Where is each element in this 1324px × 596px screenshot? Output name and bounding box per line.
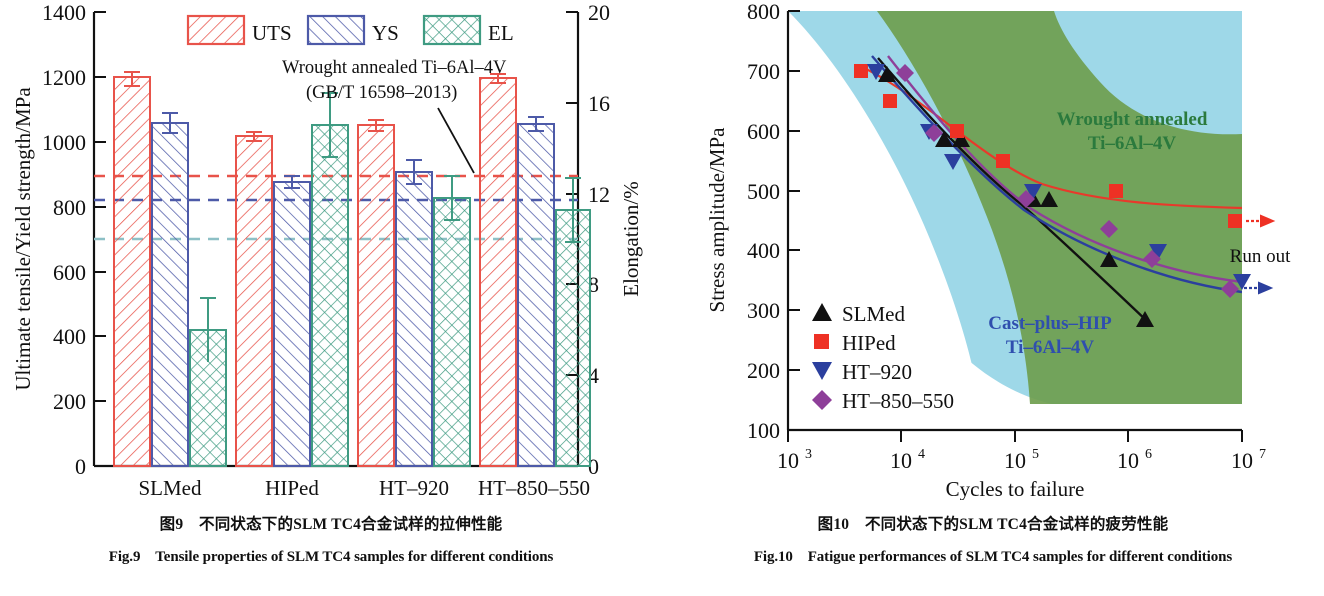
x10-tick-1e7-exp: 7 — [1259, 447, 1266, 462]
bar-uts-ht850550[interactable] — [480, 78, 516, 466]
bar-group-ht920 — [358, 120, 470, 466]
figure-9-caption-en: Fig.9 Tensile properties of SLM TC4 samp… — [0, 545, 662, 566]
y-axis-title-10: Stress amplitude/MPa — [705, 127, 729, 313]
band-label-wrought-l2: Ti–6Al–4V — [1088, 133, 1177, 154]
bar-el-ht920[interactable] — [434, 198, 470, 466]
x10-tick-1e5-exp: 5 — [1032, 447, 1039, 462]
fatigue-scatter-chart: 100 200 300 400 500 600 700 800 10 3 — [662, 0, 1324, 500]
annotation-line-2: (GB/T 16598–2013) — [306, 83, 457, 103]
bar-uts-ht920[interactable] — [358, 125, 394, 466]
legend-swatch-el — [424, 16, 480, 44]
y10-tick-700: 700 — [747, 59, 780, 84]
band-label-wrought-l1: Wrought annealed — [1057, 109, 1208, 130]
figure-9-caption-cn: 图9 不同状态下的SLM TC4合金试样的拉伸性能 — [0, 512, 662, 534]
legend-label-ys: YS — [372, 21, 399, 45]
legend-label-hiped: HIPed — [842, 331, 896, 355]
y-left-tick-1000: 1000 — [42, 130, 86, 155]
band-label-cast-l1: Cast–plus–HIP — [988, 313, 1112, 334]
legend-label-slmed: SLMed — [842, 302, 906, 326]
y-left-tick-0: 0 — [75, 454, 86, 479]
legend-tensile: UTS YS EL — [188, 16, 514, 45]
runout-label: Run out — [1230, 246, 1291, 267]
x10-tick-1e7: 10 7 — [1231, 447, 1266, 473]
y10-tick-200: 200 — [747, 358, 780, 383]
figure-9-panel: 0 200 400 600 800 1000 1200 1400 0 4 8 — [0, 0, 662, 596]
cat-label-ht920: HT–920 — [379, 476, 449, 500]
legend-label-ht920: HT–920 — [842, 360, 912, 384]
bar-group-hiped — [236, 93, 348, 466]
x-axis-ticks-10: 10 3 10 4 10 5 10 6 10 7 — [777, 430, 1266, 473]
x10-tick-1e7-base: 10 — [1231, 448, 1253, 473]
y-right-tick-12: 12 — [588, 182, 610, 207]
bar-ys-slmed[interactable] — [152, 123, 188, 466]
band-label-cast-l2: Ti–6Al–4V — [1006, 337, 1095, 358]
x10-tick-1e5-base: 10 — [1004, 448, 1026, 473]
y10-tick-500: 500 — [747, 179, 780, 204]
bar-el-hiped[interactable] — [312, 125, 348, 466]
legend-marker-hiped — [814, 334, 829, 349]
y10-tick-300: 300 — [747, 298, 780, 323]
bar-el-ht850550[interactable] — [556, 210, 590, 466]
legend-label-ht850550: HT–850–550 — [842, 389, 954, 413]
legend-swatch-uts — [188, 16, 244, 44]
bar-ys-hiped[interactable] — [274, 182, 310, 466]
bar-group-ht850550 — [480, 74, 590, 466]
cat-label-hiped: HIPed — [265, 476, 319, 500]
bar-uts-hiped[interactable] — [236, 136, 272, 466]
annotation-leader-line — [438, 108, 474, 173]
x-axis-category-labels: SLMed HIPed HT–920 HT–850–550 — [139, 476, 591, 500]
marker-hiped — [996, 154, 1010, 168]
y-left-tick-1200: 1200 — [42, 65, 86, 90]
x10-tick-1e3-exp: 3 — [805, 447, 812, 462]
legend-swatch-ys — [308, 16, 364, 44]
x10-tick-1e6: 10 6 — [1117, 447, 1152, 473]
x10-tick-1e6-base: 10 — [1117, 448, 1139, 473]
y-left-tick-600: 600 — [53, 260, 86, 285]
y-axis-left-title: Ultimate tensile/Yield strength/MPa — [11, 87, 35, 391]
cat-label-slmed: SLMed — [139, 476, 203, 500]
y-left-tick-400: 400 — [53, 324, 86, 349]
bar-group-slmed — [114, 72, 226, 466]
figure-10-panel: 100 200 300 400 500 600 700 800 10 3 — [662, 0, 1324, 596]
y-axis-right-title: Elongation/% — [619, 181, 643, 296]
x-axis-title-10: Cycles to failure — [946, 477, 1085, 500]
legend-label-el: EL — [488, 21, 514, 45]
bar-uts-slmed[interactable] — [114, 77, 150, 466]
x10-tick-1e4-base: 10 — [890, 448, 912, 473]
cat-label-ht850550: HT–850–550 — [478, 476, 590, 500]
y-left-tick-1400: 1400 — [42, 0, 86, 25]
marker-hiped — [883, 94, 897, 108]
x10-tick-1e6-exp: 6 — [1145, 447, 1152, 462]
figure-page: 0 200 400 600 800 1000 1200 1400 0 4 8 — [0, 0, 1324, 596]
bar-ys-ht850550[interactable] — [518, 124, 554, 466]
marker-hiped — [854, 64, 868, 78]
tensile-bar-chart: 0 200 400 600 800 1000 1200 1400 0 4 8 — [0, 0, 662, 500]
annotation-line-1: Wrought annealed Ti–6Al–4V — [282, 58, 507, 78]
bar-ys-ht920[interactable] — [396, 172, 432, 466]
y-right-tick-20: 20 — [588, 0, 610, 25]
x10-tick-1e4-exp: 4 — [918, 447, 925, 462]
y-left-tick-200: 200 — [53, 389, 86, 414]
x10-tick-1e3: 10 3 — [777, 447, 812, 473]
marker-hiped — [1109, 184, 1123, 198]
x10-tick-1e4: 10 4 — [890, 447, 925, 473]
y10-tick-400: 400 — [747, 238, 780, 263]
x10-tick-1e5: 10 5 — [1004, 447, 1039, 473]
legend-label-uts: UTS — [252, 21, 292, 45]
y10-tick-100: 100 — [747, 418, 780, 443]
y10-tick-600: 600 — [747, 119, 780, 144]
marker-hiped — [1228, 214, 1242, 228]
figure-10-caption-cn: 图10 不同状态下的SLM TC4合金试样的疲劳性能 — [662, 512, 1324, 534]
y-left-tick-800: 800 — [53, 195, 86, 220]
y-right-tick-16: 16 — [588, 91, 610, 116]
figure-10-caption-en: Fig.10 Fatigue performances of SLM TC4 s… — [662, 545, 1324, 566]
marker-hiped — [950, 124, 964, 138]
x10-tick-1e3-base: 10 — [777, 448, 799, 473]
y10-tick-800: 800 — [747, 0, 780, 24]
